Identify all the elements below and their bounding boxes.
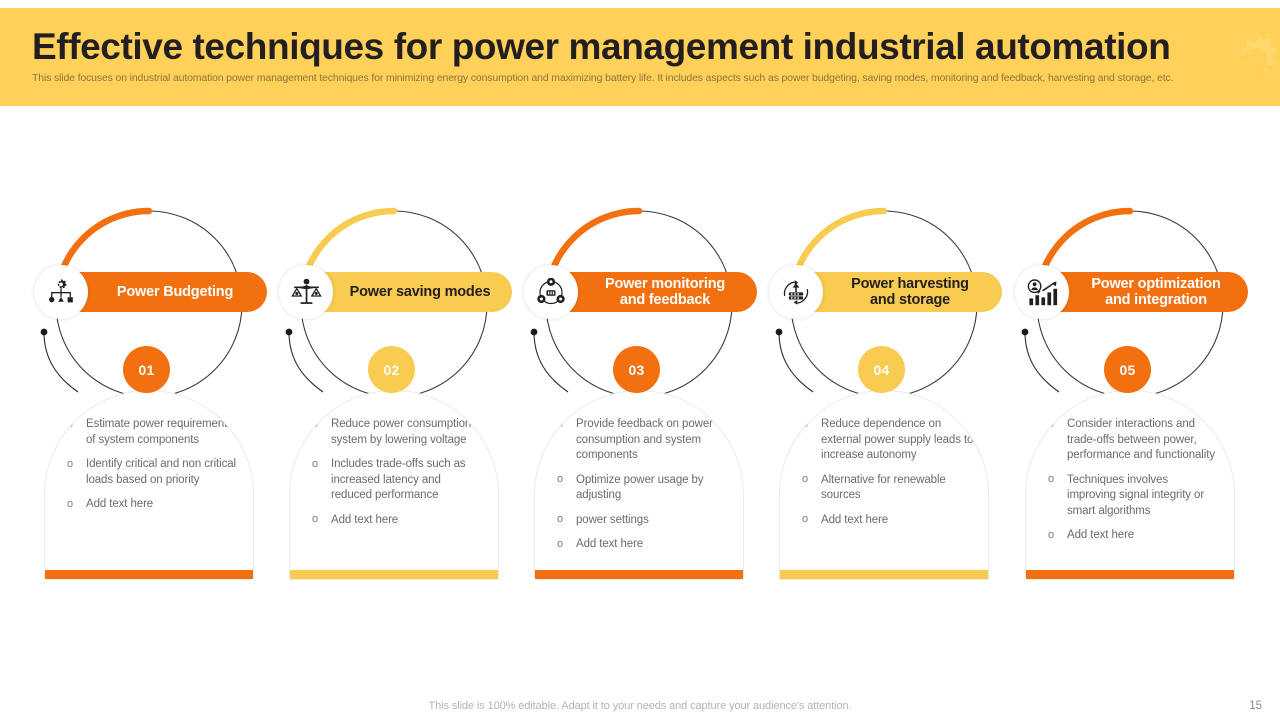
connector-tail: [1019, 326, 1079, 396]
page-number: 15: [1249, 700, 1262, 712]
bar-chart-growth-icon-circle: [1015, 265, 1069, 319]
bullet-list: Consider interactions and trade-offs bet…: [1048, 417, 1220, 544]
card-accent-bar: [535, 570, 743, 579]
page-subtitle: This slide focuses on industrial automat…: [32, 72, 1232, 85]
org-chart-gear-icon: [46, 278, 76, 306]
balance-scale-person-icon: [291, 278, 322, 307]
step-number-badge: 04: [858, 346, 905, 393]
header-banner: Effective techniques for power managemen…: [0, 8, 1280, 106]
technique-label: Power optimizationand integration: [1091, 276, 1220, 309]
battery-recycle-icon-circle: [769, 265, 823, 319]
header-text-block: Effective techniques for power managemen…: [32, 24, 1237, 85]
list-item: Add text here: [802, 513, 974, 529]
connector-tail: [283, 326, 343, 396]
list-item: Reduce power consumption of system by lo…: [312, 417, 484, 448]
technique-column: Reduce dependence on external power supp…: [761, 196, 1007, 596]
bullet-list: Reduce power consumption of system by lo…: [312, 417, 484, 528]
connector-dot: [41, 329, 48, 336]
technique-card: Provide feedback on power consumption an…: [534, 390, 744, 580]
list-item: power settings: [557, 513, 729, 529]
list-item: Add text here: [557, 537, 729, 553]
pill-label-line: Power optimization: [1091, 276, 1220, 292]
technique-card: Consider interactions and trade-offs bet…: [1025, 390, 1235, 580]
step-number-badge: 03: [613, 346, 660, 393]
pill-label-line: Power Budgeting: [117, 284, 233, 300]
technique-label: Power Budgeting: [117, 284, 233, 300]
bar-chart-growth-icon: [1027, 278, 1058, 307]
connector-tail: [528, 326, 588, 396]
technique-label: Power saving modes: [350, 284, 491, 300]
technique-column: Consider interactions and trade-offs bet…: [1007, 196, 1253, 596]
technique-column: Estimate power requirements of system co…: [26, 196, 272, 596]
connector-tail: [773, 326, 833, 396]
page-title: Effective techniques for power managemen…: [32, 24, 1237, 69]
technique-column: Provide feedback on power consumption an…: [516, 196, 762, 596]
pill-label-line: and integration: [1105, 292, 1207, 308]
card-accent-bar: [290, 570, 498, 579]
list-item: Techniques involves improving signal int…: [1048, 473, 1220, 520]
pill-label-line: and feedback: [620, 292, 710, 308]
org-chart-gear-icon-circle: [34, 265, 88, 319]
pill-label-line: Power harvesting: [851, 276, 969, 292]
card-accent-bar: [1026, 570, 1234, 579]
network-nodes-icon-circle: [524, 265, 578, 319]
list-item: Consider interactions and trade-offs bet…: [1048, 417, 1220, 464]
list-item: Add text here: [312, 513, 484, 529]
technique-column: Reduce power consumption of system by lo…: [271, 196, 517, 596]
list-item: Optimize power usage by adjusting: [557, 473, 729, 504]
technique-card: Estimate power requirements of system co…: [44, 390, 254, 580]
connector-dot: [776, 329, 783, 336]
card-accent-bar: [780, 570, 988, 579]
list-item: Reduce dependence on external power supp…: [802, 417, 974, 464]
technique-label: Power monitoringand feedback: [605, 276, 725, 309]
slide-root: Effective techniques for power managemen…: [0, 0, 1280, 720]
pill-label-line: Power monitoring: [605, 276, 725, 292]
connector-dot: [531, 329, 538, 336]
connector-dot: [286, 329, 293, 336]
card-accent-bar: [45, 570, 253, 579]
bullet-list: Reduce dependence on external power supp…: [802, 417, 974, 528]
bullet-list: Provide feedback on power consumption an…: [557, 417, 729, 553]
step-number-badge: 01: [123, 346, 170, 393]
connector-tail: [38, 326, 98, 396]
technique-label: Power harvestingand storage: [851, 276, 969, 309]
connector-dot: [1022, 329, 1029, 336]
bullet-list: Estimate power requirements of system co…: [67, 417, 239, 513]
battery-recycle-icon: [781, 278, 811, 307]
technique-card: Reduce dependence on external power supp…: [779, 390, 989, 580]
list-item: Provide feedback on power consumption an…: [557, 417, 729, 464]
list-item: Estimate power requirements of system co…: [67, 417, 239, 448]
step-number-badge: 02: [368, 346, 415, 393]
list-item: Alternative for renewable sources: [802, 473, 974, 504]
technique-columns: Estimate power requirements of system co…: [0, 196, 1280, 596]
list-item: Identify critical and non critical loads…: [67, 457, 239, 488]
step-number-badge: 05: [1104, 346, 1151, 393]
balance-scale-person-icon-circle: [279, 265, 333, 319]
footer-note: This slide is 100% editable. Adapt it to…: [0, 700, 1280, 712]
technique-card: Reduce power consumption of system by lo…: [289, 390, 499, 580]
pill-label-line: and storage: [870, 292, 950, 308]
list-item: Includes trade-offs such as increased la…: [312, 457, 484, 504]
list-item: Add text here: [67, 497, 239, 513]
list-item: Add text here: [1048, 528, 1220, 544]
network-nodes-icon: [536, 278, 566, 307]
pill-label-line: Power saving modes: [350, 284, 491, 300]
